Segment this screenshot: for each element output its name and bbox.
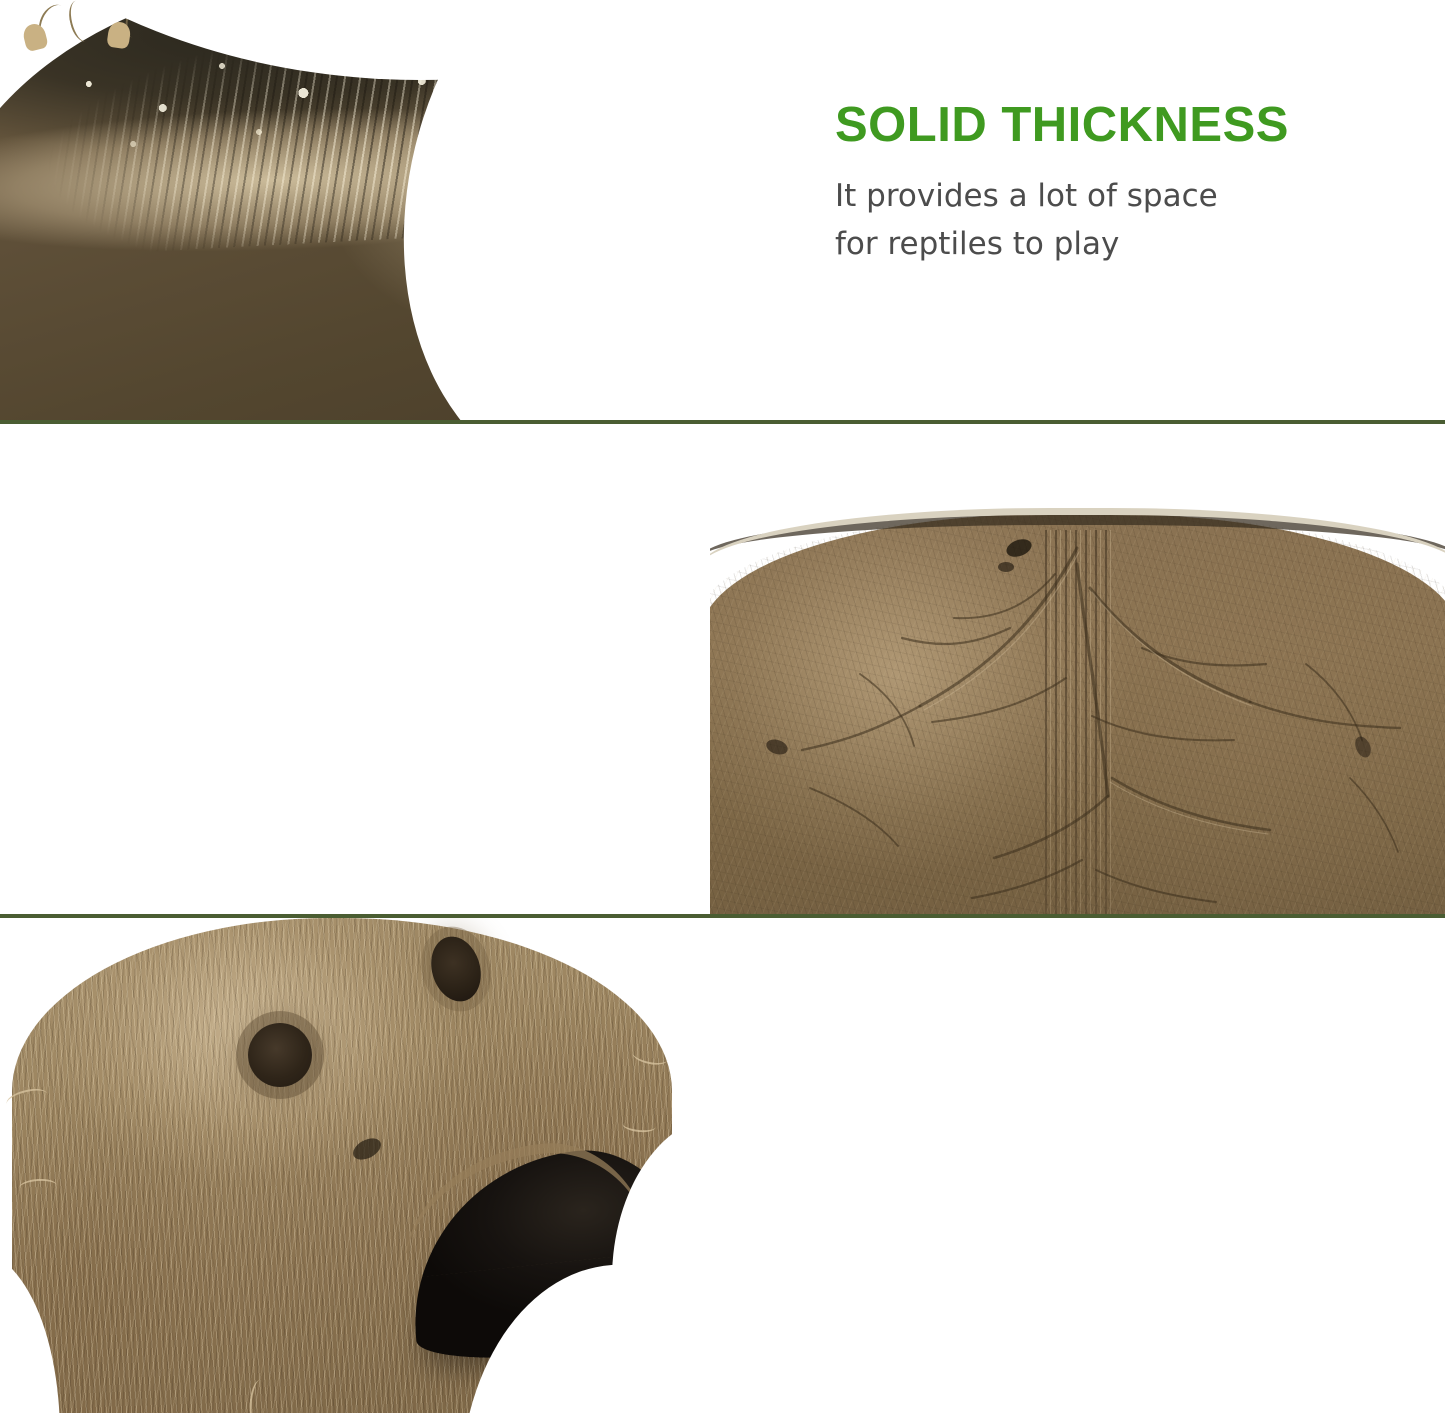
coconut-shell-inner-surface-image: [710, 478, 1445, 914]
feature-panel-solid-thickness: SOLID THICKNESS It provides a lot of spa…: [0, 0, 1445, 420]
section-divider-2: [0, 914, 1445, 918]
coconut-husk-exterior-image: [0, 918, 700, 1413]
panel-body-line-1-solid-thickness: It provides a lot of space: [835, 173, 1289, 220]
product-feature-infographic: SOLID THICKNESS It provides a lot of spa…: [0, 0, 1445, 1413]
panel-body-line-2-solid-thickness: for reptiles to play: [835, 221, 1289, 268]
solid-thickness-text-block: SOLID THICKNESS It provides a lot of spa…: [835, 100, 1289, 268]
panel-heading-solid-thickness: SOLID THICKNESS: [835, 100, 1289, 151]
section-divider-1: [0, 420, 1445, 424]
coconut-germination-pore: [248, 1023, 312, 1087]
coconut-shell-edge-cross-section-image: [0, 0, 712, 420]
